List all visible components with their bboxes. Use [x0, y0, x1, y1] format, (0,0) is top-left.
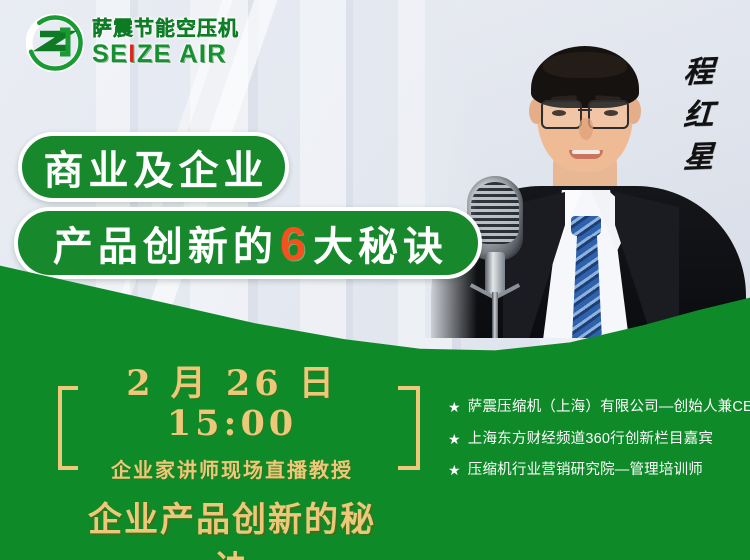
sz-monogram-icon	[26, 14, 84, 72]
brand-name-cn: 萨震节能空压机	[92, 19, 239, 39]
brand-en-post: ZE AIR	[137, 40, 227, 68]
brand-en-pre: SE	[92, 40, 128, 68]
star-icon: ★	[448, 430, 461, 449]
headline-number-badge: 6	[278, 216, 313, 271]
list-item: ★ 萨震压缩机（上海）有限公司—创始人兼CEO	[448, 398, 740, 418]
list-item: ★ 压缩机行业营销研究院—管理培训师	[448, 461, 740, 481]
promotional-banner: 程 红 星 萨震节能空压机 SEIZE AIR 商业及企业 产品创新的6大秘诀	[0, 0, 750, 560]
speaker-credentials-list: ★ 萨震压缩机（上海）有限公司—创始人兼CEO ★ 上海东方财经频道360行创新…	[448, 398, 740, 493]
headline-pill-primary: 商业及企业	[18, 132, 289, 202]
speaker-name-char-1: 程	[675, 51, 723, 95]
headline-line-2-before: 产品创新的	[53, 214, 278, 272]
event-date-time: 2 月 26 日 15:00	[72, 364, 392, 445]
brand-en-accent: I	[128, 40, 136, 68]
event-subtitle: 企业家讲师现场直播教授	[72, 454, 392, 483]
brand-logo: 萨震节能空压机 SEIZE AIR	[26, 14, 239, 72]
headline-line-2-after: 大秘诀	[313, 214, 448, 272]
event-details: 2 月 26 日 15:00 企业家讲师现场直播教授 企业产品创新的秘诀	[72, 364, 392, 560]
event-main-topic: 企业产品创新的秘诀	[72, 492, 392, 560]
credential-text: 压缩机行业营销研究院—管理培训师	[468, 461, 703, 481]
credential-text: 上海东方财经频道360行创新栏目嘉宾	[468, 430, 713, 450]
speaker-name-char-3: 星	[675, 136, 723, 180]
speaker-name-calligraphy: 程 红 星	[676, 52, 722, 180]
headline-pill-secondary: 产品创新的6大秘诀	[14, 207, 482, 279]
credential-text: 萨震压缩机（上海）有限公司—创始人兼CEO	[468, 398, 750, 418]
speaker-name-char-2: 红	[675, 94, 723, 138]
star-icon: ★	[448, 461, 461, 480]
brand-name-en: SEIZE AIR	[92, 42, 239, 67]
list-item: ★ 上海东方财经频道360行创新栏目嘉宾	[448, 430, 740, 450]
headline-line-1: 商业及企业	[44, 138, 269, 196]
star-icon: ★	[448, 398, 461, 417]
